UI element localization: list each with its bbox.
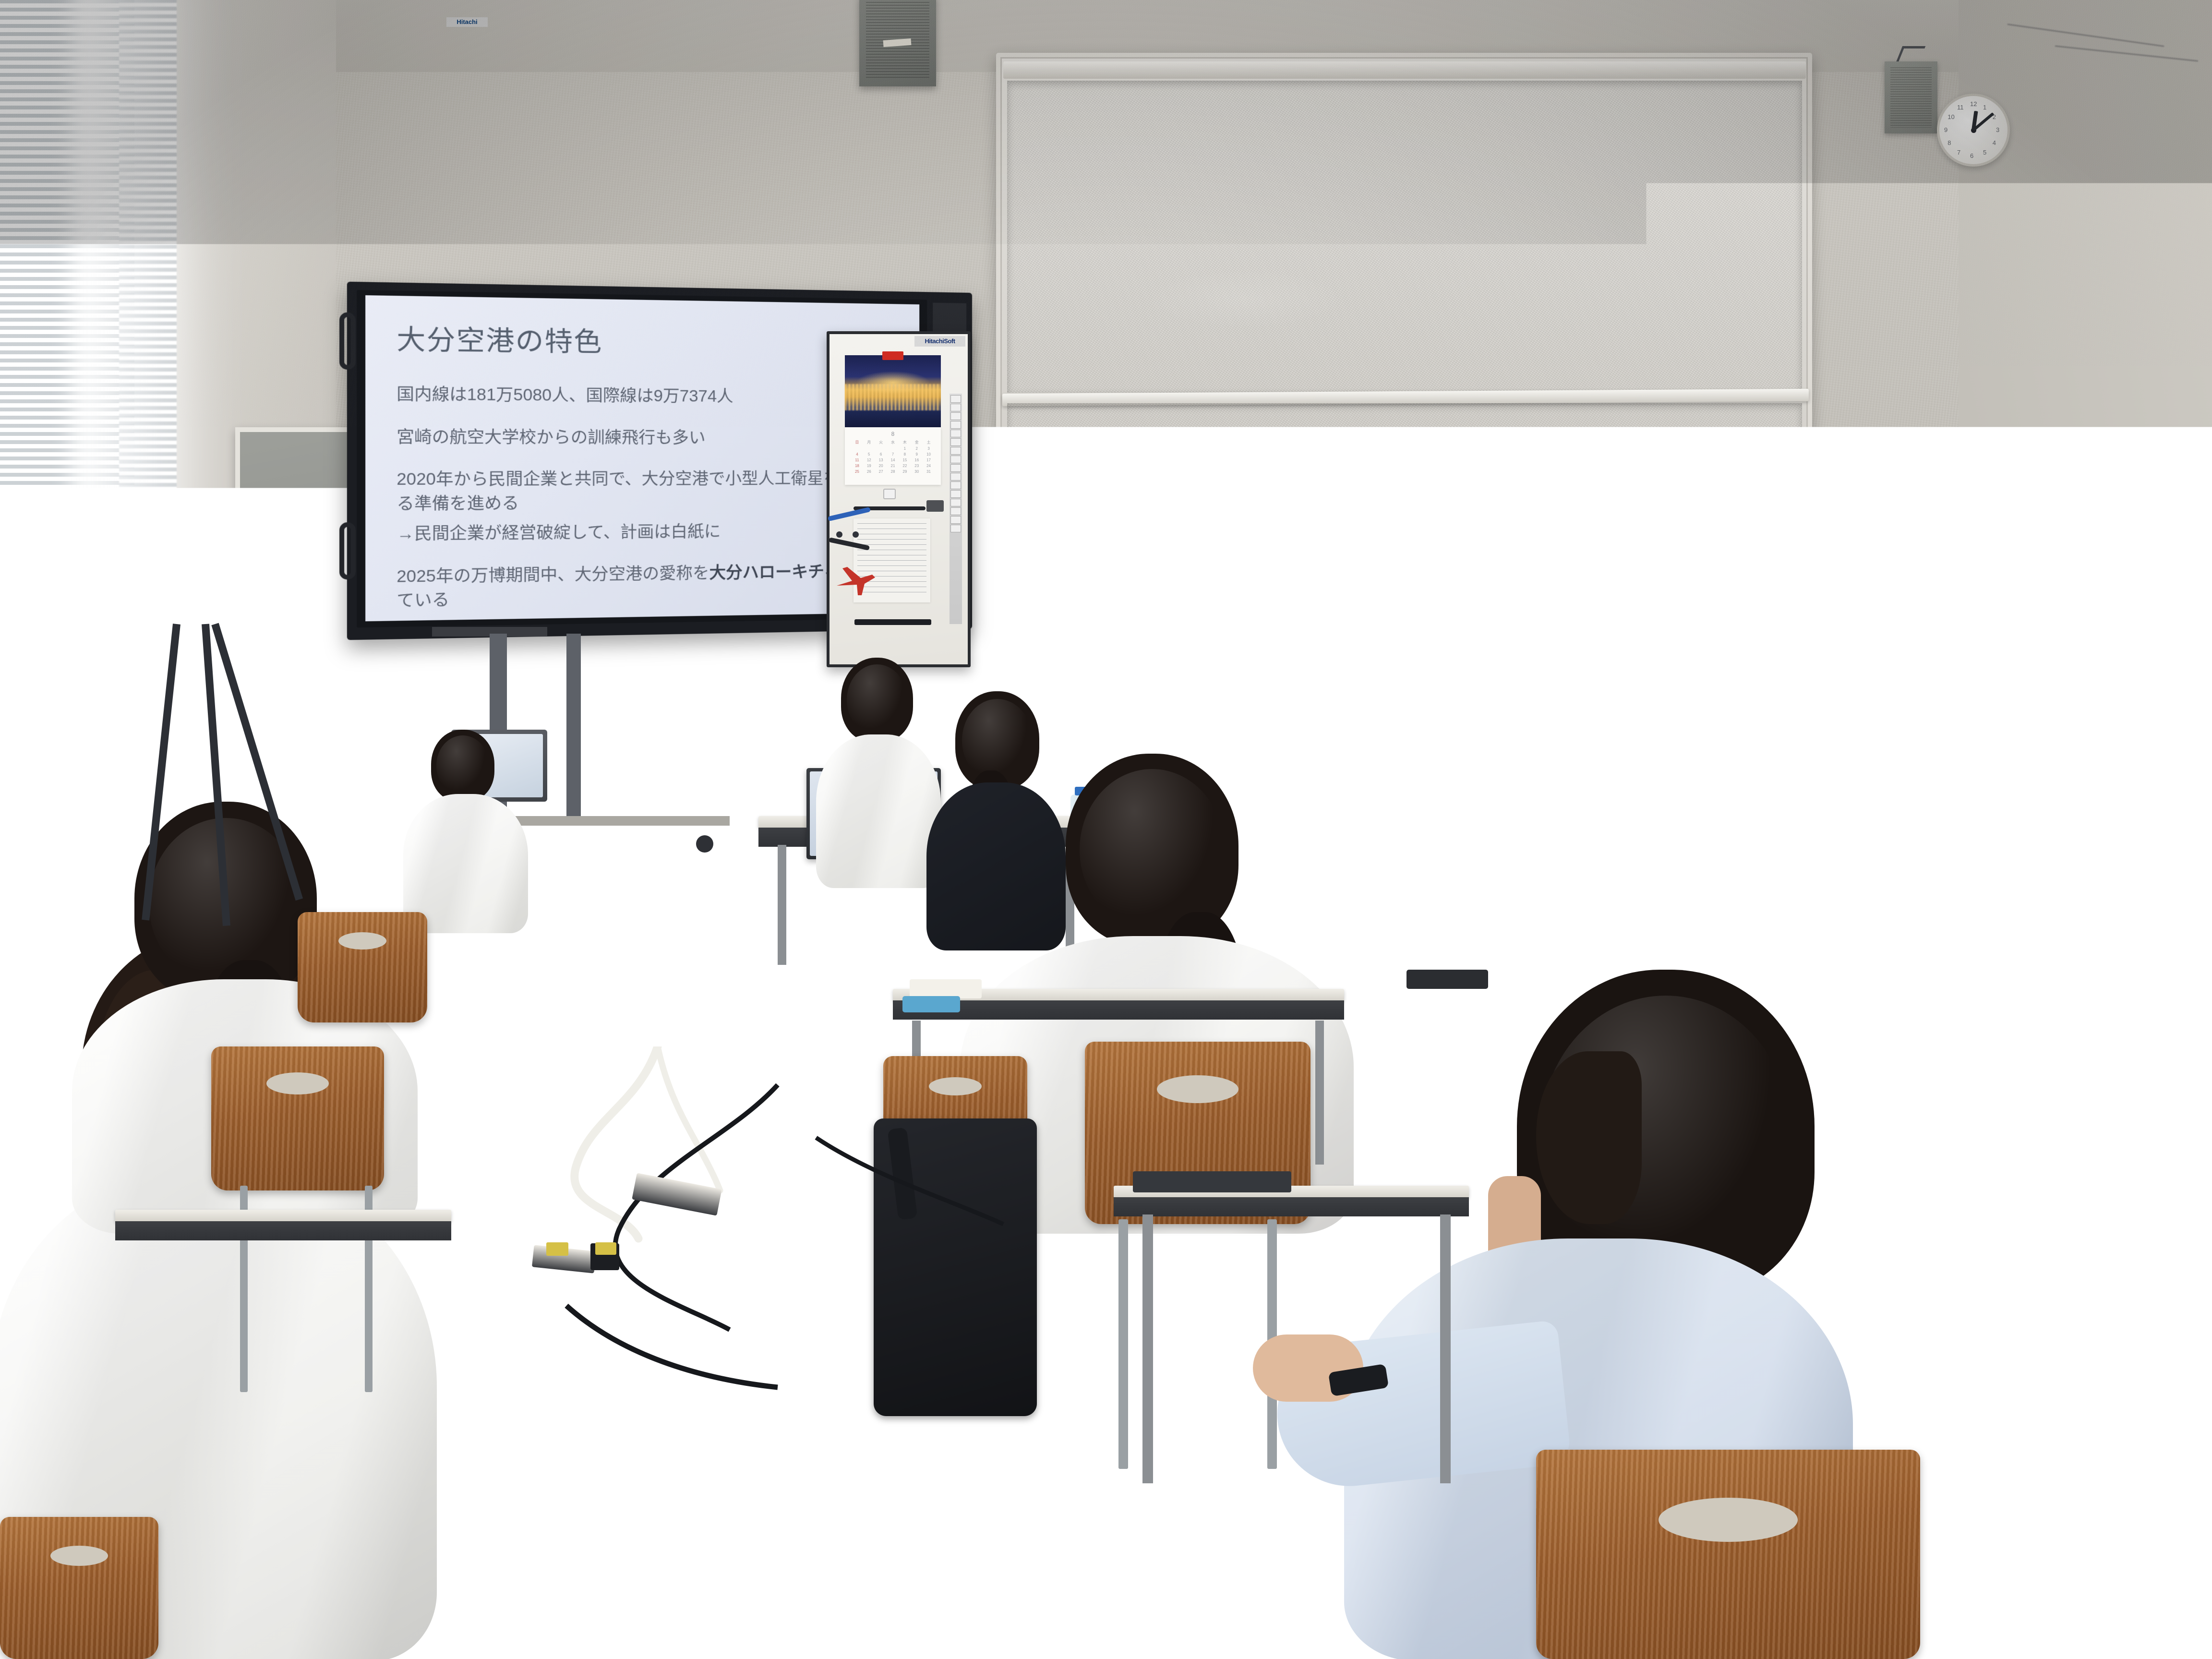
framed-portrait xyxy=(2131,490,2212,612)
sanitizer-pump xyxy=(2144,678,2157,693)
chair-handle-slot xyxy=(338,932,386,950)
student-left-back-2 xyxy=(403,730,528,931)
calendar-day: 14 xyxy=(888,458,899,462)
calendar-weekday: 金 xyxy=(911,440,922,445)
podium-power-strip[interactable] xyxy=(1258,702,1344,717)
calendar-day: 20 xyxy=(876,464,887,468)
outlet-4[interactable] xyxy=(1308,706,1316,712)
schedule-period-time: 10:35~12:15 xyxy=(2033,490,2067,499)
student-center-back-1 xyxy=(816,658,941,888)
whiteboard-brand-label: HitachiSoft xyxy=(914,336,965,347)
floor-cable-black xyxy=(480,1080,1008,1474)
calendar-day: 2 xyxy=(911,446,922,451)
presenter-right-hand xyxy=(1575,668,1603,700)
outlet-1[interactable] xyxy=(1264,706,1273,712)
chair-backrest xyxy=(1536,1450,1920,1659)
schedule-period-label: SHR xyxy=(2017,545,2030,553)
period-schedule-poster: 1限8:45~10:252限10:35~12:15昼休12:15~13:153限… xyxy=(2012,469,2084,559)
calendar-magnet[interactable] xyxy=(883,489,896,499)
calendar-day: 1 xyxy=(899,446,910,451)
presenter-head xyxy=(1503,451,1569,528)
calendar-weekday: 月 xyxy=(864,440,875,445)
schedule-row: 3限13:15~14:55 xyxy=(2017,517,2080,527)
calendar-day: 13 xyxy=(876,458,887,462)
shirt-folds xyxy=(816,734,941,888)
document-camera-base xyxy=(1150,667,1246,692)
calendar-day: 11 xyxy=(852,458,863,462)
schedule-period-time: 8:45~10:25 xyxy=(2033,476,2063,485)
tool-icon-11[interactable] xyxy=(950,481,961,489)
calendar-clip xyxy=(882,351,903,360)
podium-monitor-screen xyxy=(1300,629,1412,700)
student-head xyxy=(2127,854,2212,955)
tool-icon-9[interactable] xyxy=(950,464,961,472)
portrait-photo xyxy=(2161,571,2183,597)
video-camera[interactable] xyxy=(178,558,240,581)
desk-leg-c1 xyxy=(778,845,786,965)
calendar-day xyxy=(888,446,899,451)
student-right-edge xyxy=(2122,854,2212,1123)
calendar-day: 12 xyxy=(864,458,875,462)
chair-handle-slot xyxy=(1987,1046,2055,1069)
calendar-weekday: 火 xyxy=(876,440,887,445)
display-brand-logo: Hitachi xyxy=(446,17,488,27)
clock-numeral: 6 xyxy=(1970,152,1973,159)
wall-speaker xyxy=(1885,61,1937,133)
whiteboard-magnet-dot-2[interactable] xyxy=(853,531,859,538)
hair-highlight xyxy=(1429,748,1509,842)
calendar-day: 29 xyxy=(899,469,910,474)
calendar-day: 17 xyxy=(923,458,934,462)
student-torso xyxy=(2050,1498,2212,1659)
student-head xyxy=(431,730,494,802)
calendar-weekday: 水 xyxy=(888,440,899,445)
classroom-photo: 121234567891011 大分空港の特色 国内線は181万5080人、国際… xyxy=(0,0,2212,1659)
podium-cable-clutter xyxy=(1099,695,1195,705)
calendar-day: 19 xyxy=(864,464,875,468)
schedule-period-label: 2限 xyxy=(2017,490,2030,499)
tool-icon-12[interactable] xyxy=(950,490,961,498)
schedule-period-label: 4限 xyxy=(2017,531,2030,541)
wood-grain xyxy=(1536,1450,1920,1659)
foreground-laptop-closed[interactable] xyxy=(1133,1171,1291,1192)
presenter-hair-fringe xyxy=(1502,451,1548,492)
chair-backrest xyxy=(0,1517,158,1659)
hair-volume xyxy=(1536,1051,1642,1224)
chair-leg-r1b xyxy=(2074,1166,2082,1310)
clock-numeral: 7 xyxy=(1957,149,1960,156)
schedule-row: 昼休12:15~13:15 xyxy=(2017,504,2080,513)
chair-handle-slot xyxy=(266,1072,329,1094)
calendar-day: 21 xyxy=(888,464,899,468)
student-head xyxy=(1421,739,1517,851)
calendar-day: 27 xyxy=(876,469,887,474)
calendar-month-sheet: 8 日月火水木金土1234567891011121314151617181920… xyxy=(845,427,941,485)
calendar-day xyxy=(876,446,887,451)
calendar-day: 8 xyxy=(899,452,910,457)
hair-highlight xyxy=(1080,769,1225,930)
schedule-row: SHR16:45~17:15 xyxy=(2017,545,2080,553)
orange-chalk[interactable] xyxy=(1032,641,1078,649)
outlet-2[interactable] xyxy=(1279,706,1287,712)
student-head xyxy=(841,658,913,742)
desk-leg-fg1 xyxy=(1142,1214,1153,1483)
wood-grain xyxy=(1930,1018,2112,1171)
clock-numeral: 11 xyxy=(1957,104,1964,111)
note-lines xyxy=(757,628,806,697)
display-handle-bottom[interactable] xyxy=(339,522,356,580)
schedule-row: 2限10:35~12:15 xyxy=(2017,490,2080,499)
calendar-day: 28 xyxy=(888,469,899,474)
schedule-row: 4限15:05~16:45 xyxy=(2017,531,2080,541)
wall-clock: 121234567891011 xyxy=(1937,94,2010,167)
chalkboard-lower-panel xyxy=(1007,403,1802,646)
calendar-day: 26 xyxy=(864,469,875,474)
chair-backrest xyxy=(1930,1018,2112,1171)
display-tool-strip[interactable] xyxy=(950,394,962,624)
window-glare xyxy=(72,0,168,730)
tool-icon-5[interactable] xyxy=(950,430,961,437)
whiteboard-bottom-marker[interactable] xyxy=(854,619,931,625)
document-camera-lens xyxy=(1168,598,1186,619)
presenter xyxy=(1474,451,1608,720)
calendar-day: 15 xyxy=(899,458,910,462)
tool-icon-2[interactable] xyxy=(950,404,961,411)
calendar-month-number: 8 xyxy=(845,431,941,437)
chalk-smudge-upper xyxy=(1007,81,1802,393)
student-torso xyxy=(2122,946,2212,1123)
tool-icon-1[interactable] xyxy=(950,395,961,403)
papers-on-desk xyxy=(910,979,982,998)
chair-left-1[interactable] xyxy=(298,912,427,1022)
cable-tag-yellow-1 xyxy=(546,1242,568,1256)
tool-icon-10[interactable] xyxy=(950,473,961,481)
podium-floor-cable xyxy=(1358,845,1599,1037)
slide-line-5-prefix: 2025年の万博期間中、大分空港の愛称を xyxy=(397,563,709,585)
student-head xyxy=(2069,1354,2212,1512)
schedule-row: 1限8:45~10:25 xyxy=(2017,476,2080,485)
note-lines xyxy=(301,613,348,639)
calendar-day: 25 xyxy=(852,469,863,474)
tool-icon-14[interactable] xyxy=(950,507,961,515)
desk-left-2 xyxy=(115,1210,451,1243)
tool-icon-3[interactable] xyxy=(950,412,961,420)
chair-backrest xyxy=(298,912,427,1022)
chair-handle-slot xyxy=(50,1546,108,1566)
glasses-icon xyxy=(1867,714,1894,725)
presenter-right-arm xyxy=(1572,571,1604,682)
chalk-smudge-lower xyxy=(1007,403,1802,646)
calendar-photo-lights xyxy=(845,384,941,410)
notice-text-long xyxy=(2015,564,2058,650)
chalkboard-top-rail xyxy=(1003,61,1806,79)
desk-front-panel xyxy=(115,1221,451,1240)
calendar-day: 4 xyxy=(852,452,863,457)
desk-front-panel xyxy=(1114,1197,1469,1216)
tool-icon-16[interactable] xyxy=(950,525,961,532)
tool-icon-15[interactable] xyxy=(950,516,961,524)
chair-foreground-bottom[interactable] xyxy=(1536,1450,1920,1659)
hair-highlight xyxy=(2134,863,2211,947)
student-bottom-right xyxy=(2050,1354,2212,1659)
note-lines xyxy=(2071,610,2139,657)
calendar-day: 7 xyxy=(888,452,899,457)
calendar-weekday: 土 xyxy=(923,440,934,445)
blue-pencil-case[interactable] xyxy=(902,996,960,1012)
calendar-day: 31 xyxy=(923,469,934,474)
display-handle-top[interactable] xyxy=(339,312,356,370)
wall-speaker-grill xyxy=(1890,67,1932,128)
calendar-day: 5 xyxy=(864,452,875,457)
note-lines xyxy=(377,635,405,672)
calendar-weekday: 木 xyxy=(899,440,910,445)
display-caster-right xyxy=(696,835,713,853)
chair-leg-r1a xyxy=(1959,1166,1967,1310)
display-stand-right xyxy=(566,634,581,821)
monitor-base xyxy=(1325,728,1397,740)
calendar-day: 16 xyxy=(911,458,922,462)
red-airplane-magnet[interactable] xyxy=(833,562,877,599)
schedule-period-time: 15:05~16:45 xyxy=(2033,531,2067,541)
wood-grain xyxy=(211,1046,384,1190)
calendar-day xyxy=(852,446,863,451)
calendar-day: 3 xyxy=(923,446,934,451)
cable-tag-yellow-2 xyxy=(595,1242,616,1255)
clock-numeral: 10 xyxy=(1948,113,1954,120)
desk-leg-fg2 xyxy=(1440,1214,1451,1483)
hair-highlight xyxy=(847,664,907,735)
monitor-neck xyxy=(1344,706,1374,731)
clock-numeral: 8 xyxy=(1948,139,1951,146)
desk-surface xyxy=(115,1210,451,1222)
calendar-day: 22 xyxy=(899,464,910,468)
wood-grain xyxy=(0,1517,158,1659)
chair-backrest xyxy=(211,1046,384,1190)
presenter-id-card xyxy=(1526,634,1546,660)
clock-numeral: 5 xyxy=(1983,149,1986,156)
outlet-3[interactable] xyxy=(1293,706,1302,712)
calendar-day xyxy=(864,446,875,451)
notice-beige xyxy=(2079,540,2131,602)
clock-numeral: 3 xyxy=(1996,126,1999,133)
notice-lower xyxy=(2069,607,2141,660)
glasses-icon xyxy=(2064,1426,2117,1446)
calendar-day: 18 xyxy=(852,464,863,468)
schedule-period-label: 1限 xyxy=(2017,476,2030,485)
clock-numeral: 9 xyxy=(1944,126,1948,133)
wall-poster-small-2 xyxy=(754,624,809,701)
calendar-day-grid: 日月火水木金土123456789101112131415161718192021… xyxy=(852,440,934,474)
chair-bottom-left[interactable] xyxy=(0,1517,158,1659)
tool-icon-7[interactable] xyxy=(950,447,961,455)
tool-icon-13[interactable] xyxy=(950,499,961,506)
calendar-day: 10 xyxy=(923,452,934,457)
calendar-day: 30 xyxy=(911,469,922,474)
calendar-day: 23 xyxy=(911,464,922,468)
hair-accessory xyxy=(1493,765,1521,792)
camera-mount xyxy=(190,579,209,595)
schedule-period-time: 12:15~13:15 xyxy=(2033,504,2067,513)
calendar-day: 9 xyxy=(911,452,922,457)
clock-numeral: 1 xyxy=(1983,104,1986,111)
clock-numeral: 4 xyxy=(1993,139,1996,146)
chair-right-1[interactable] xyxy=(1930,1018,2112,1171)
chair-handle-slot xyxy=(1157,1075,1238,1103)
schedule-period-time: 13:15~14:55 xyxy=(2033,517,2067,527)
wood-grain xyxy=(298,912,427,1022)
window-sill xyxy=(0,681,192,709)
schedule-period-time: 16:45~17:15 xyxy=(2033,545,2067,553)
chair-leg-c2a xyxy=(1118,1219,1128,1469)
whiteboard-magnet-dot-1[interactable] xyxy=(836,531,842,538)
chair-handle-slot xyxy=(1659,1498,1798,1542)
calendar-weekday: 日 xyxy=(852,440,863,445)
tool-icon-4[interactable] xyxy=(950,421,961,429)
chalkboard-upper-panel xyxy=(1007,81,1802,393)
chair-left-2[interactable] xyxy=(211,1046,384,1190)
left-board-note xyxy=(298,610,350,643)
whiteboard-eraser[interactable] xyxy=(926,500,944,512)
calendar-day: 6 xyxy=(876,452,887,457)
schedule-period-label: 昼休 xyxy=(2017,504,2030,513)
note-lines xyxy=(2018,567,2056,648)
calendar-day: 24 xyxy=(923,464,934,468)
student-torso xyxy=(816,734,941,888)
student-hands-clasped xyxy=(1815,850,1911,893)
schedule-period-label: 3限 xyxy=(2017,517,2030,527)
clock-numeral: 12 xyxy=(1970,100,1977,108)
hair-highlight xyxy=(436,735,490,796)
tool-icon-8[interactable] xyxy=(950,456,961,463)
podium-monitor xyxy=(1291,622,1421,710)
tool-icon-6[interactable] xyxy=(950,438,961,446)
